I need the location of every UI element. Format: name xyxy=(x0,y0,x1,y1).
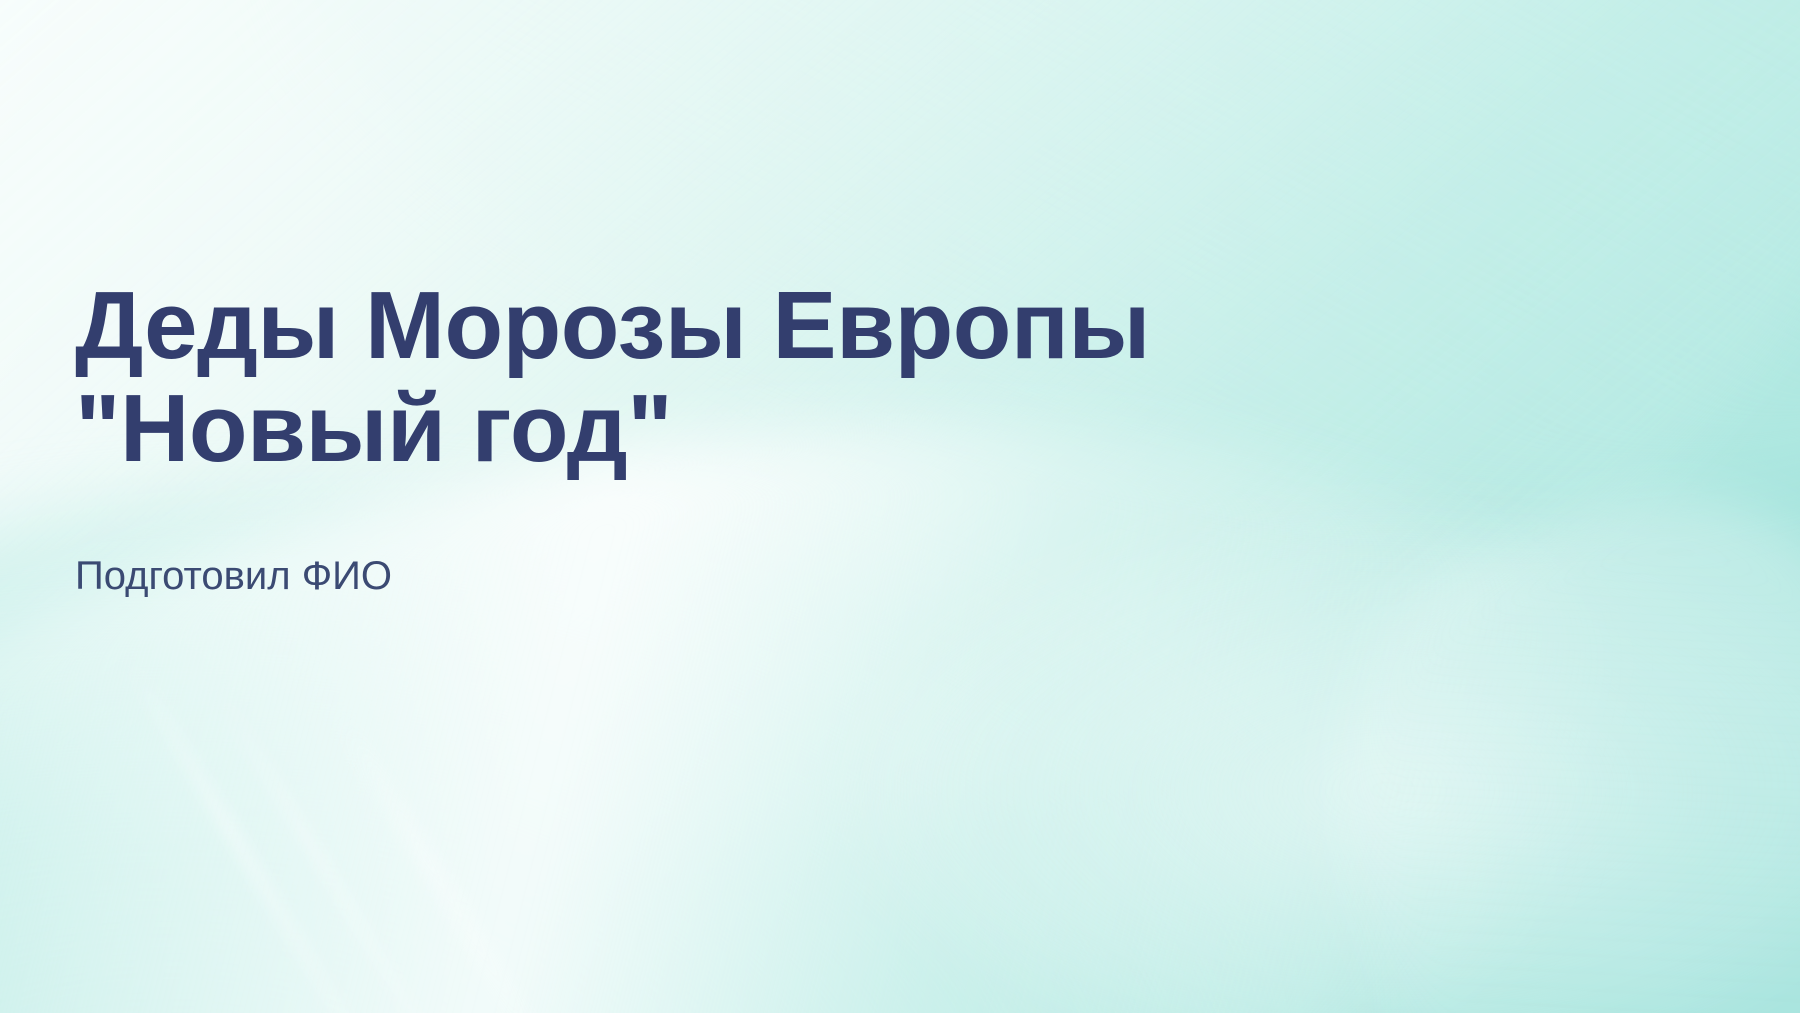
slide-title: Деды Морозы Европы "Новый год" xyxy=(75,275,1395,480)
title-slide: Деды Морозы Европы "Новый год" Подготови… xyxy=(0,0,1800,1013)
slide-subtitle: Подготовил ФИО xyxy=(75,480,1395,600)
slide-content: Деды Морозы Европы "Новый год" Подготови… xyxy=(75,275,1395,600)
